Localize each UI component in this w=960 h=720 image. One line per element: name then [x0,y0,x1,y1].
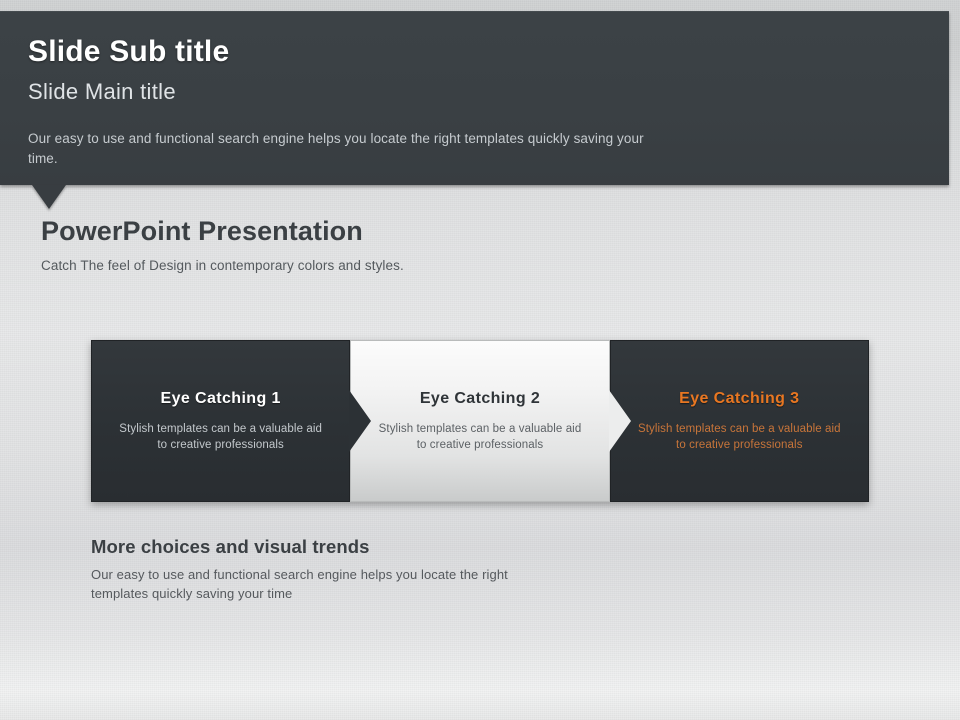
section-subtitle: Catch The feel of Design in contemporary… [41,258,404,273]
panel-title: Eye Catching 2 [420,390,540,408]
panel-text: Stylish templates can be a valuable aid … [118,421,323,453]
footer-heading: More choices and visual trends [91,536,370,558]
section-title: PowerPoint Presentation [41,216,363,247]
panel-eye-catching-2[interactable]: Eye Catching 2 Stylish templates can be … [350,340,609,502]
footer-description: Our easy to use and functional search en… [91,565,531,603]
panel-text: Stylish templates can be a valuable aid … [377,421,582,453]
panel-text: Stylish templates can be a valuable aid … [637,421,842,453]
header-bar: Slide Sub title Slide Main title Our eas… [0,11,949,185]
panel-eye-catching-3[interactable]: Eye Catching 3 Stylish templates can be … [610,340,869,502]
slide-main-title: Slide Main title [28,79,176,105]
panel-title: Eye Catching 3 [679,390,799,408]
slide-sub-title: Slide Sub title [28,35,229,69]
chevron-right-icon [609,390,631,452]
panel-eye-catching-1[interactable]: Eye Catching 1 Stylish templates can be … [91,340,350,502]
header-description: Our easy to use and functional search en… [28,129,648,169]
slide-canvas: Slide Sub title Slide Main title Our eas… [0,0,960,720]
panel-title: Eye Catching 1 [161,390,281,408]
chevron-right-icon [349,390,371,452]
header-pointer-triangle [32,185,66,209]
panel-group: Eye Catching 1 Stylish templates can be … [91,340,869,502]
